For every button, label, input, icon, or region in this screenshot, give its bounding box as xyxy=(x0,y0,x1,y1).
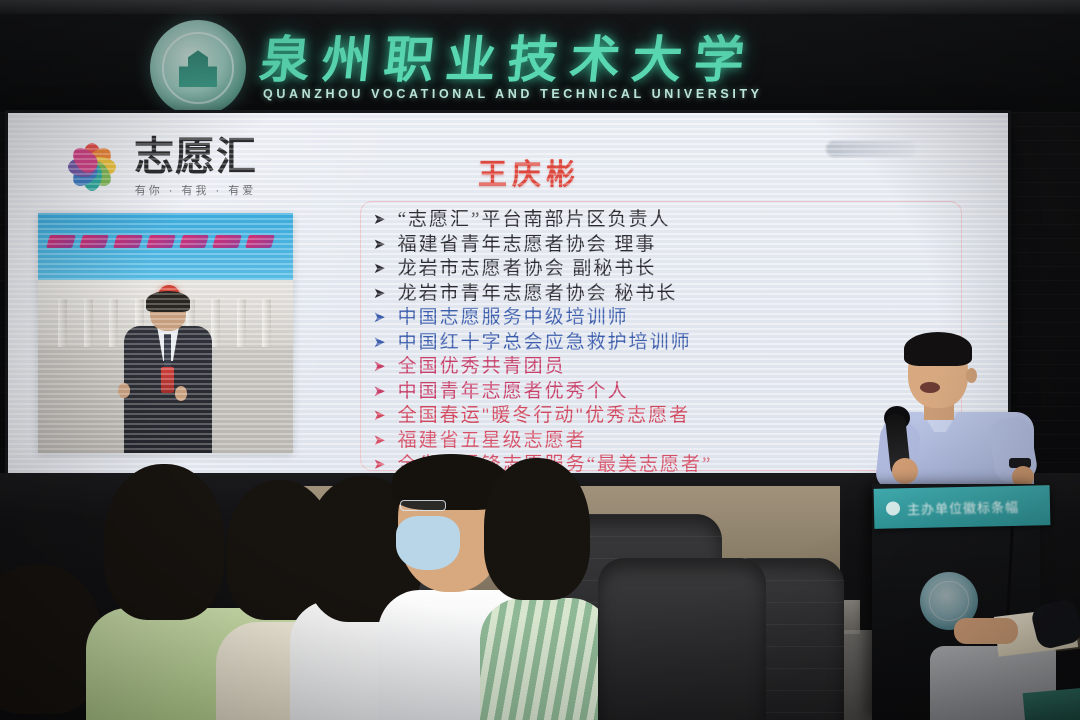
bullet-arrow-icon: ➤ xyxy=(373,359,386,374)
screen-watermark xyxy=(826,141,916,157)
audience-area xyxy=(0,440,1080,720)
credential-item: ➤龙岩市青年志愿者协会 秘书长 xyxy=(361,284,961,309)
credential-item: ➤全国春运"暖冬行动"优秀志愿者 xyxy=(361,406,961,431)
pinwheel-petals-logo-icon xyxy=(60,135,124,199)
auditorium-scene: 泉州职业技术大学 QUANZHOU VOCATIONAL AND TECHNIC… xyxy=(0,0,1080,720)
bullet-arrow-icon: ➤ xyxy=(373,335,386,350)
credential-text: 中国红十字总会应急救护培训师 xyxy=(398,333,692,352)
logo-tagline: 有你 · 有我 · 有爱 xyxy=(134,182,257,198)
bullet-arrow-icon: ➤ xyxy=(373,286,386,301)
university-banner: 泉州职业技术大学 QUANZHOU VOCATIONAL AND TECHNIC… xyxy=(0,14,1080,112)
university-seal-icon xyxy=(150,20,246,116)
folder xyxy=(1023,687,1080,720)
audience-member xyxy=(104,464,224,620)
credentials-list: ➤“志愿汇”平台南部片区负责人➤福建省青年志愿者协会 理事➤龙岩市志愿者协会 副… xyxy=(360,201,962,471)
university-name-en: QUANZHOU VOCATIONAL AND TECHNICAL UNIVER… xyxy=(263,87,763,101)
university-name-cn: 泉州职业技术大学 xyxy=(257,35,765,85)
bullet-arrow-icon: ➤ xyxy=(373,212,386,227)
eyeglasses-icon xyxy=(400,500,446,511)
credential-text: 全国优秀共青团员 xyxy=(398,357,566,376)
speaker-portrait-photo xyxy=(38,213,293,453)
credential-item: ➤龙岩市志愿者协会 副秘书长 xyxy=(361,259,961,284)
photo-credential-badge xyxy=(161,367,175,392)
bullet-arrow-icon: ➤ xyxy=(373,310,386,325)
bullet-arrow-icon: ➤ xyxy=(373,384,386,399)
credential-item: ➤全国优秀共青团员 xyxy=(361,357,961,382)
credential-text: 中国青年志愿者优秀个人 xyxy=(398,382,629,401)
credential-text: 龙岩市志愿者协会 副秘书长 xyxy=(398,259,657,278)
credential-text: “志愿汇”平台南部片区负责人 xyxy=(398,210,671,229)
credential-item: ➤中国青年志愿者优秀个人 xyxy=(361,382,961,407)
bullet-arrow-icon: ➤ xyxy=(373,408,386,423)
credential-item: ➤“志愿汇”平台南部片区负责人 xyxy=(361,210,961,235)
zhiyuanhui-logo: 志愿汇 有你 · 有我 · 有爱 xyxy=(60,135,257,199)
projection-screen: 志愿汇 有你 · 有我 · 有爱 xyxy=(8,113,1008,473)
photo-person xyxy=(122,295,214,453)
seated-staff-member xyxy=(930,612,1080,720)
credential-text: 中国志愿服务中级培训师 xyxy=(398,308,629,327)
bullet-arrow-icon: ➤ xyxy=(373,237,386,252)
audience-member xyxy=(480,598,612,720)
logo-name: 志愿汇 xyxy=(134,137,257,177)
slide-title: 王庆彬 xyxy=(478,151,580,193)
credential-item: ➤中国志愿服务中级培训师 xyxy=(361,308,961,333)
audience-chair xyxy=(598,558,766,720)
credential-item: ➤中国红十字总会应急救护培训师 xyxy=(361,333,961,358)
audience-member xyxy=(484,458,590,600)
bullet-arrow-icon: ➤ xyxy=(373,261,386,276)
credential-item: ➤福建省青年志愿者协会 理事 xyxy=(361,235,961,260)
face-mask xyxy=(396,516,460,570)
credential-text: 龙岩市青年志愿者协会 秘书长 xyxy=(398,284,678,303)
credential-text: 福建省青年志愿者协会 理事 xyxy=(398,235,657,254)
credential-text: 全国春运"暖冬行动"优秀志愿者 xyxy=(398,406,691,425)
